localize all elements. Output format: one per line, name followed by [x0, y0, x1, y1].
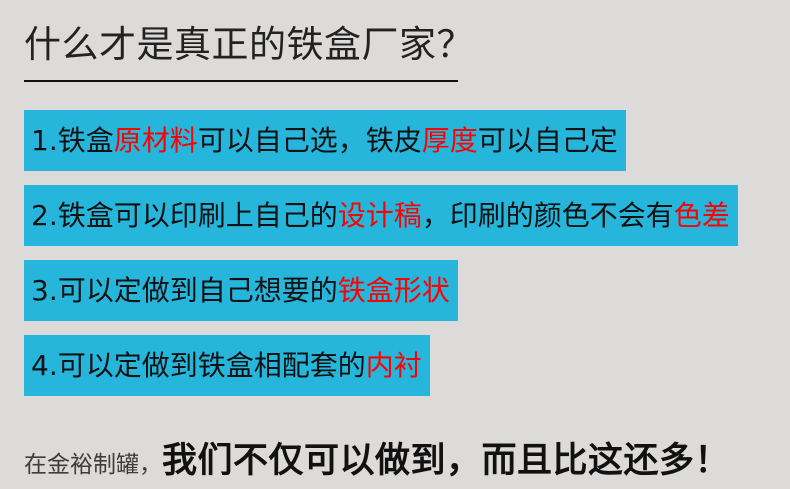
footer-main-text: 我们不仅可以做到，而且比这还多！ — [162, 441, 730, 481]
feature-bar-4: 4.可以定做到铁盒相配套的内衬 — [24, 335, 430, 396]
feature-bar-1-seg-0: 1.铁盒 — [31, 124, 114, 157]
title-divider — [24, 80, 458, 82]
brand-name: 金裕制罐 — [47, 452, 139, 478]
feature-bar-row: 4.可以定做到铁盒相配套的内衬 — [24, 335, 764, 396]
feature-bar-list: 1.铁盒原材料可以自己选，铁皮厚度可以自己定 2.铁盒可以印刷上自己的设计稿，印… — [24, 110, 764, 396]
feature-bar-2-seg-0: 2.铁盒可以印刷上自己的 — [31, 199, 338, 232]
feature-bar-1-seg-2: 可以自己选，铁皮 — [198, 124, 422, 157]
footer-lead-suffix: ， — [139, 452, 162, 478]
feature-bar-row: 1.铁盒原材料可以自己选，铁皮厚度可以自己定 — [24, 110, 764, 171]
feature-bar-1-seg-1-highlight: 原材料 — [114, 124, 198, 157]
feature-bar-1-seg-3-highlight: 厚度 — [422, 124, 478, 157]
footer-lead-prefix: 在 — [24, 452, 47, 478]
title-block: 什么才是真正的铁盒厂家？ — [24, 22, 458, 82]
feature-bar-2-seg-1-highlight: 设计稿 — [338, 199, 422, 232]
feature-bar-3-seg-1-highlight: 铁盒形状 — [338, 274, 450, 307]
feature-bar-4-seg-0: 4.可以定做到铁盒相配套的 — [31, 349, 366, 382]
feature-bar-2-seg-2: ，印刷的颜色不会有 — [422, 199, 674, 232]
feature-bar-3-seg-0: 3.可以定做到自己想要的 — [31, 274, 338, 307]
feature-bar-2: 2.铁盒可以印刷上自己的设计稿，印刷的颜色不会有色差 — [24, 185, 738, 246]
feature-bar-3: 3.可以定做到自己想要的铁盒形状 — [24, 260, 458, 321]
promo-page: 什么才是真正的铁盒厂家？ 1.铁盒原材料可以自己选，铁皮厚度可以自己定 2.铁盒… — [0, 0, 790, 489]
feature-bar-2-seg-3-highlight: 色差 — [674, 199, 730, 232]
footer-tagline: 在金裕制罐，我们不仅可以做到，而且比这还多！ — [24, 432, 730, 483]
feature-bar-4-seg-1-highlight: 内衬 — [366, 349, 422, 382]
feature-bar-row: 3.可以定做到自己想要的铁盒形状 — [24, 260, 764, 321]
feature-bar-1: 1.铁盒原材料可以自己选，铁皮厚度可以自己定 — [24, 110, 626, 171]
page-title: 什么才是真正的铁盒厂家？ — [24, 22, 458, 68]
feature-bar-row: 2.铁盒可以印刷上自己的设计稿，印刷的颜色不会有色差 — [24, 185, 764, 246]
feature-bar-1-seg-4: 可以自己定 — [478, 124, 618, 157]
